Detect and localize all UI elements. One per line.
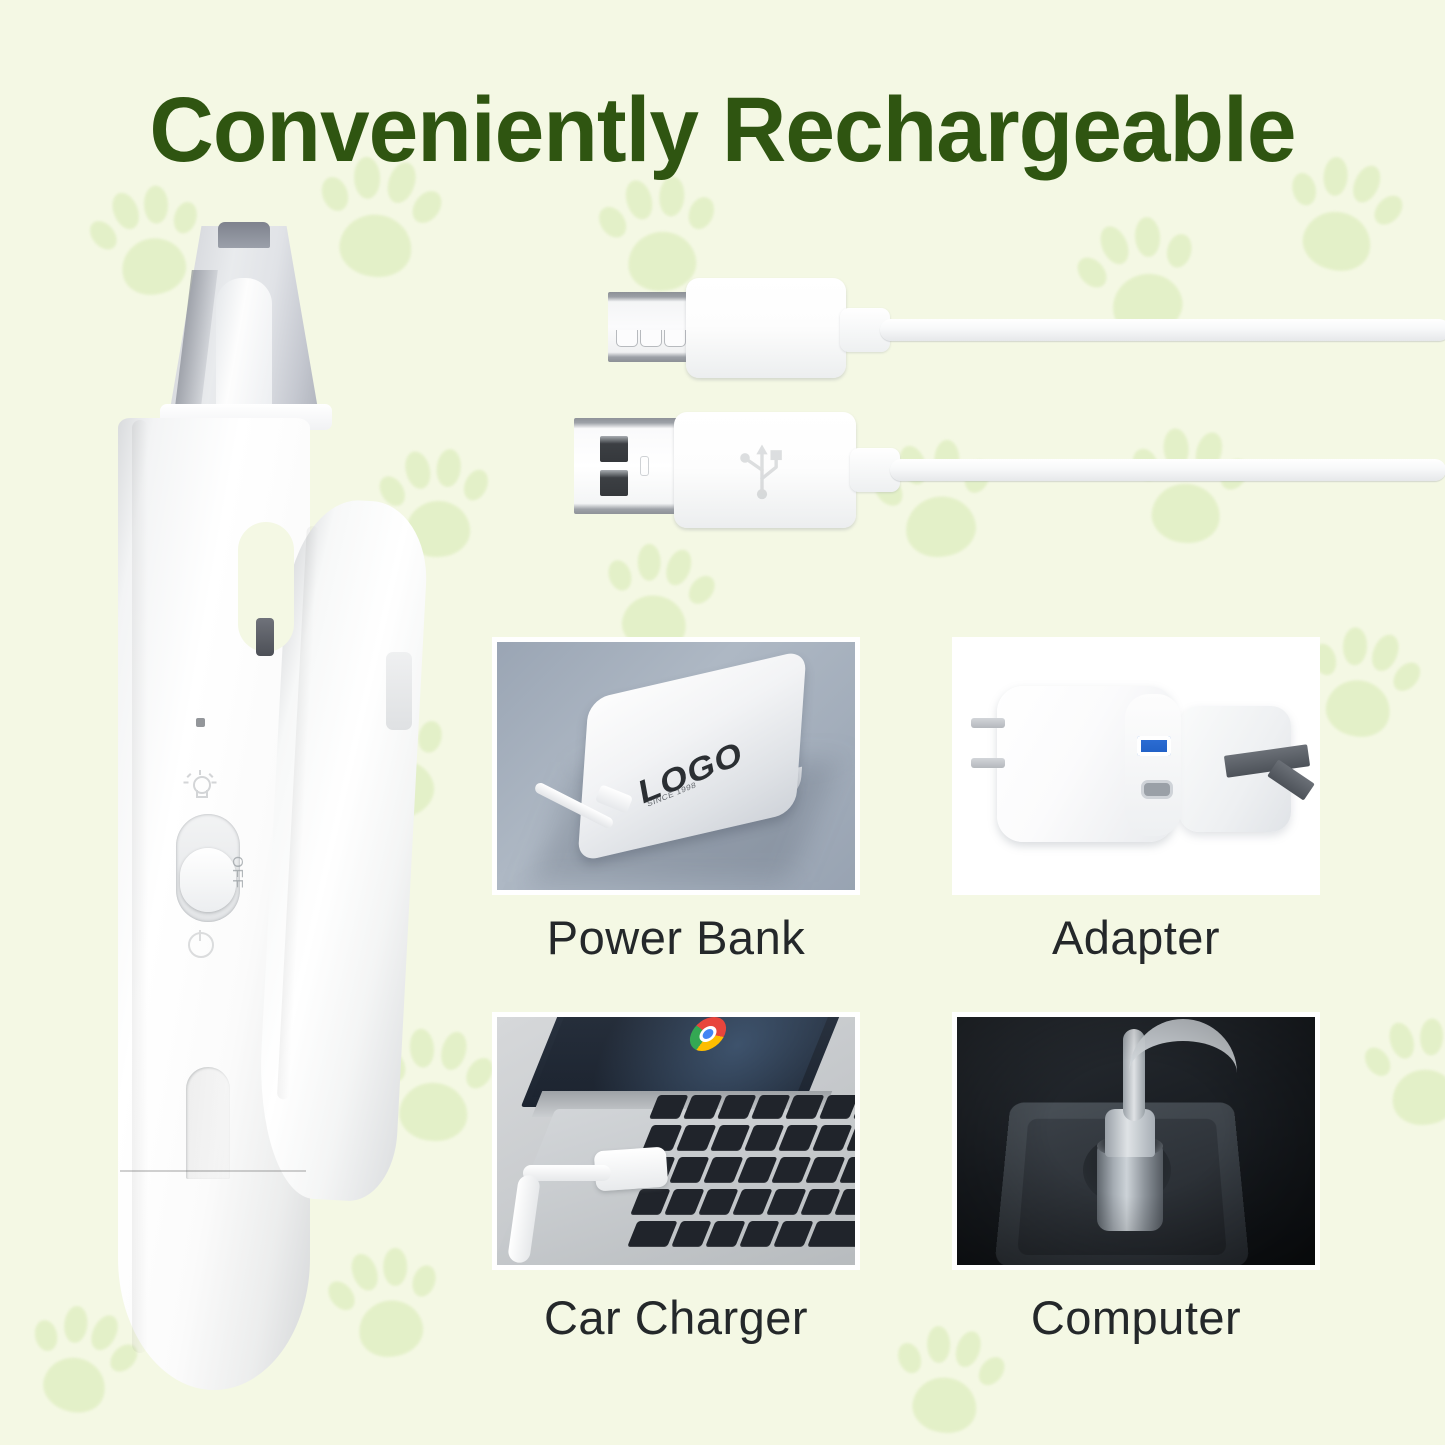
usb-a-plug-housing — [674, 412, 856, 528]
usb-trident-logo — [728, 436, 796, 504]
power-icon — [188, 932, 214, 958]
power-switch-knob[interactable] — [180, 848, 236, 912]
thumb-grip-slot — [186, 1067, 230, 1179]
infographic-canvas: Conveniently Rechargeable OFF — [0, 0, 1445, 1445]
caption-adapter: Adapter — [952, 910, 1320, 965]
product-image-nail-clipper: OFF — [100, 222, 460, 1372]
lever-grip-notch — [386, 652, 412, 730]
nail-guide-post — [216, 278, 272, 423]
micro-usb-tip — [608, 292, 696, 362]
paw-print-icon — [1359, 1004, 1445, 1137]
caption-power-bank: Power Bank — [492, 910, 860, 965]
led-indicator — [196, 718, 205, 727]
charging-option-image-computer[interactable] — [952, 1012, 1320, 1270]
page-title: Conveniently Rechargeable — [22, 78, 1424, 183]
micro-usb-plug-housing — [686, 278, 846, 378]
micro-usb-cable — [608, 278, 1445, 394]
guard-top-cap — [218, 222, 270, 248]
adapter-prong — [971, 758, 1005, 768]
scene-vignette — [957, 1017, 1315, 1265]
charging-option-image-adapter[interactable] — [952, 637, 1320, 895]
usb-contact — [600, 436, 628, 462]
micro-usb-notches — [616, 330, 688, 346]
caption-computer: Computer — [952, 1290, 1320, 1345]
usb-a-tongue — [640, 456, 649, 476]
adapter-usb-a-port — [1137, 736, 1171, 756]
adapter-port-face — [1125, 694, 1181, 836]
usb-a-tip — [574, 418, 678, 514]
adapter-prong — [971, 718, 1005, 728]
light-bulb-icon — [184, 770, 216, 802]
adapter-usb-c-port — [1141, 780, 1173, 799]
switch-off-label: OFF — [229, 856, 246, 889]
caption-car-charger: Car Charger — [492, 1290, 860, 1345]
usb-a-cable — [574, 412, 1445, 548]
hinge-pin — [256, 618, 274, 656]
charging-option-image-car-charger[interactable] — [492, 1012, 860, 1270]
usb-a-cord — [890, 459, 1445, 481]
usb-contact — [600, 470, 628, 496]
laptop-screen-glow — [532, 1012, 831, 1097]
charging-option-image-power-bank[interactable]: LOGO SINCE 1998 — [492, 637, 860, 895]
micro-usb-cord — [880, 319, 1445, 341]
